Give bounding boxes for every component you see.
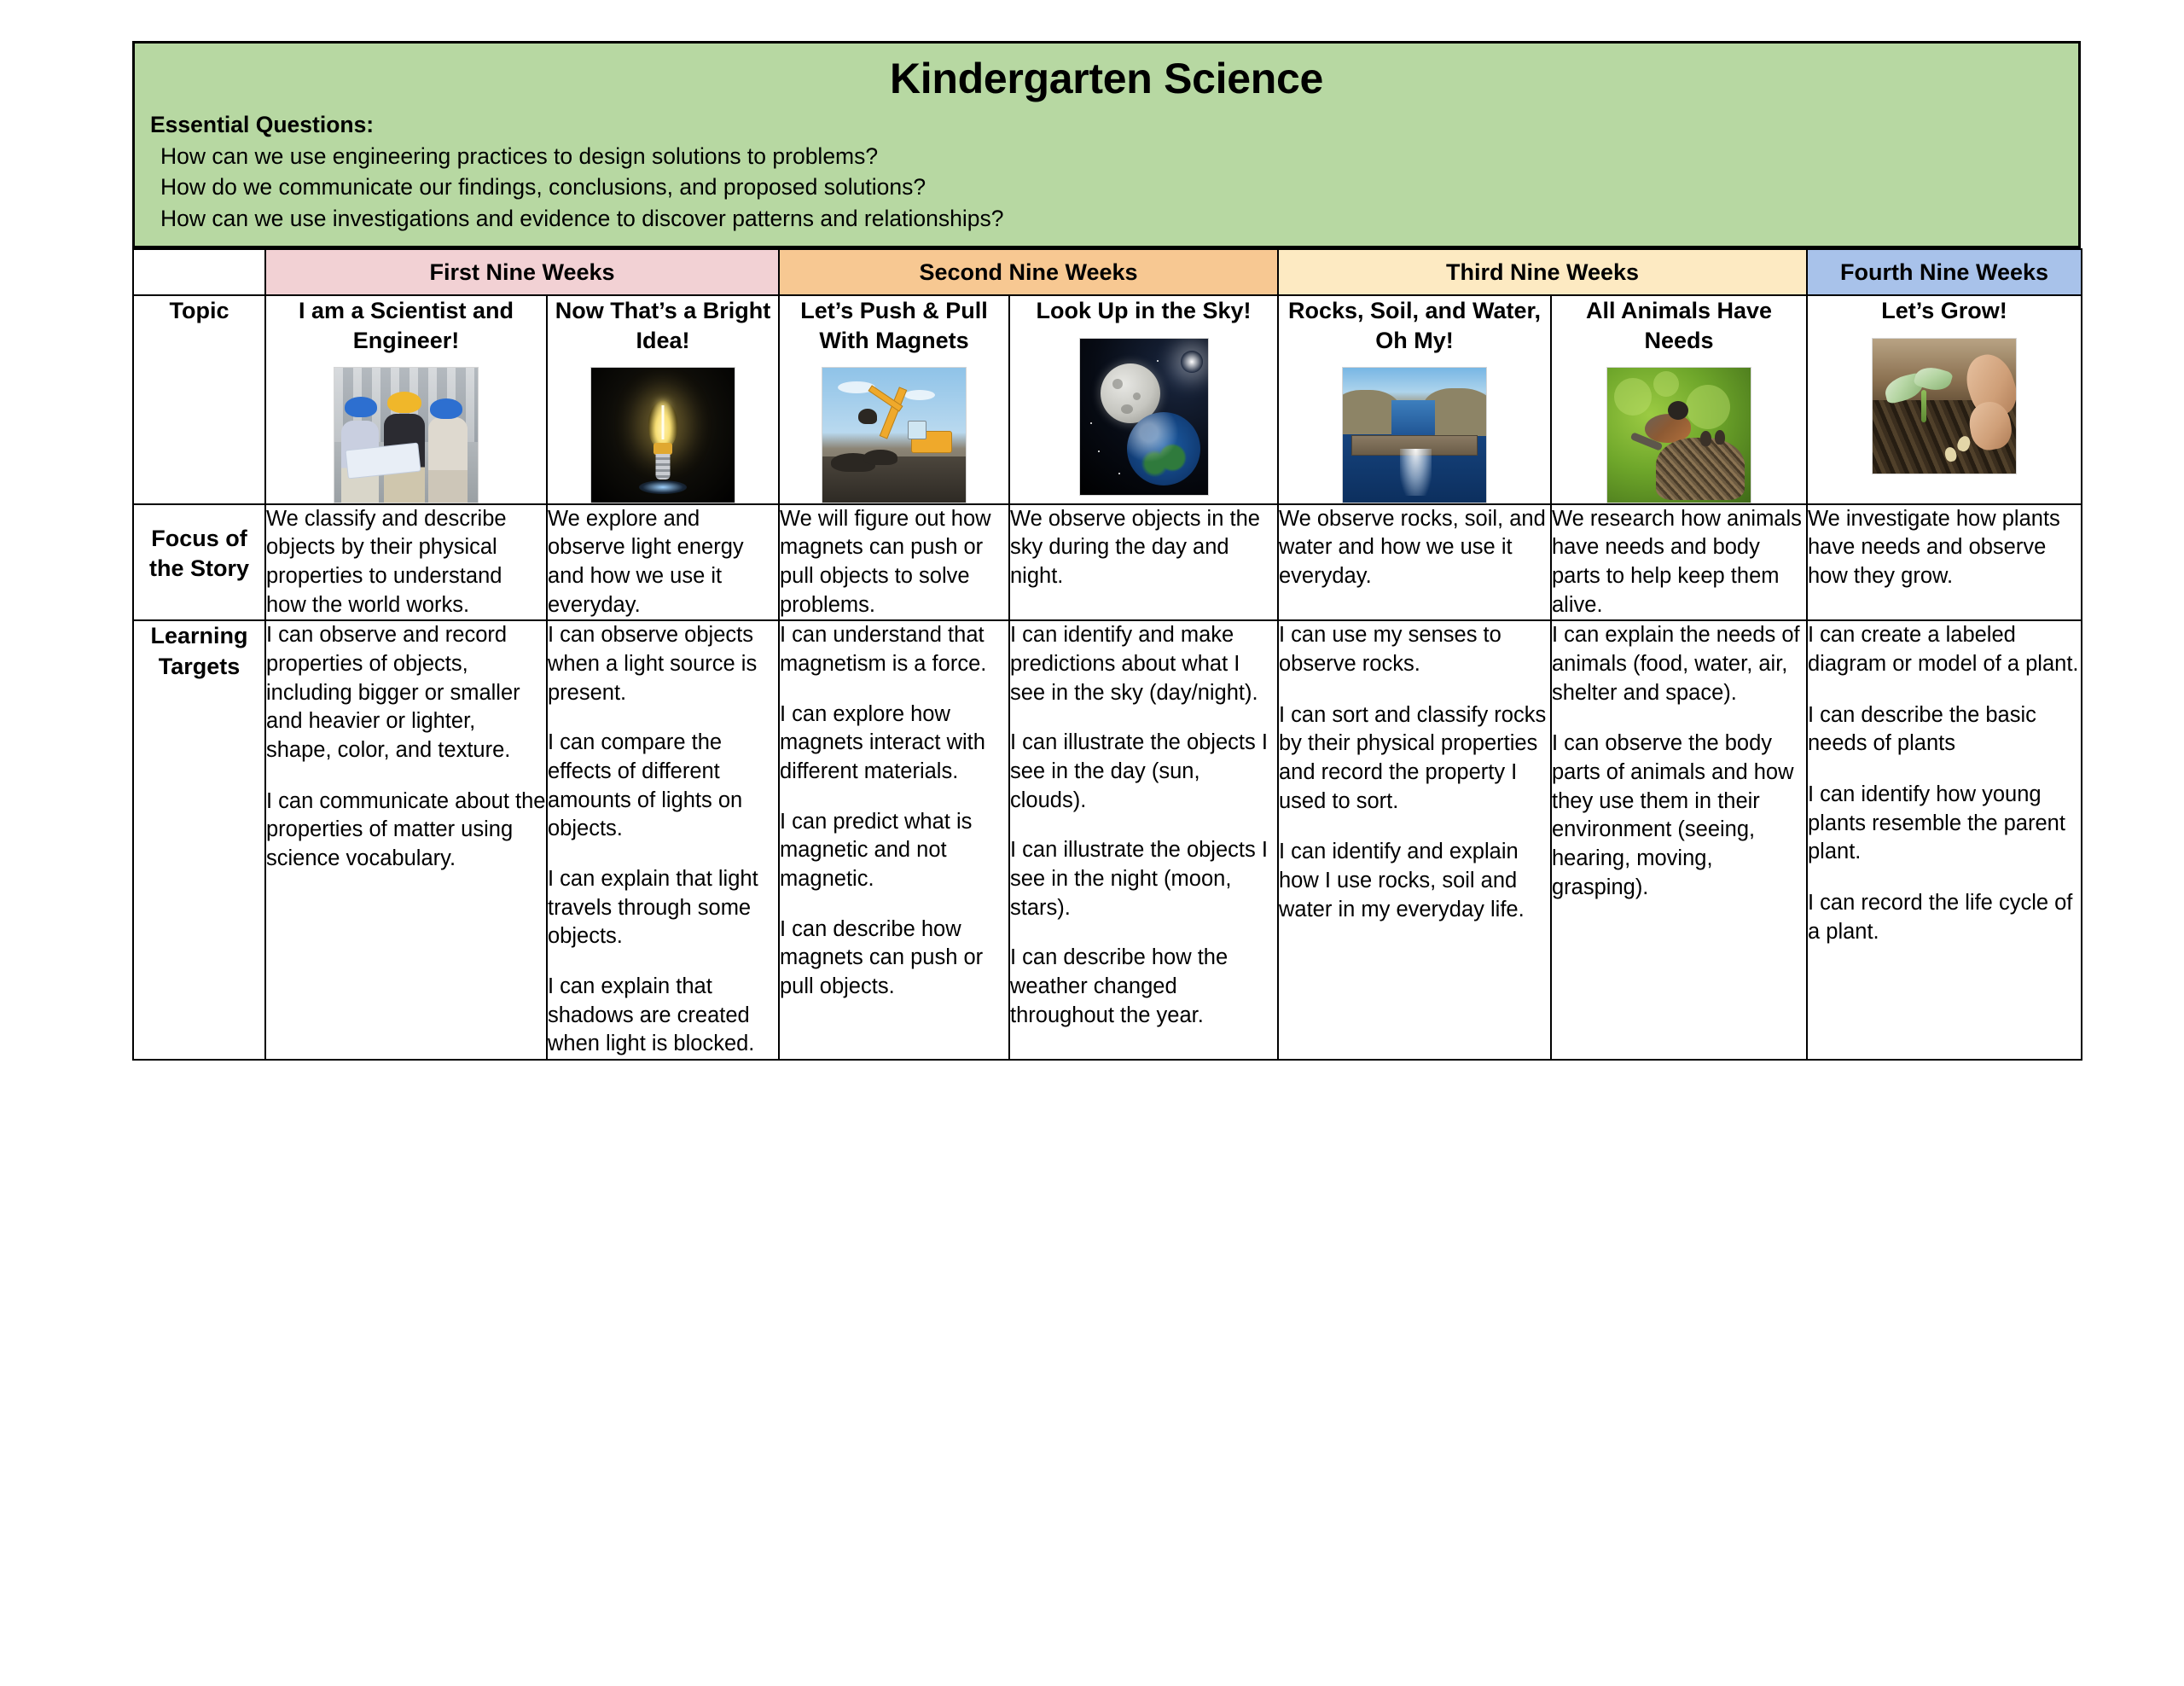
topic-image-wrap-7 [1808,326,2081,474]
topic-cell-1: I am a Scientist and Engineer! [265,295,547,504]
learning-target-item: I can understand that magnetism is a for… [780,621,1008,678]
learning-target-item: I can identify how young plants resemble… [1808,781,2081,867]
term-header-spacer [133,249,265,295]
excavator-crane-photo [822,367,967,503]
focus-row: Focus of the Story We classify and descr… [133,504,2082,621]
row-label-targets: Learning Targets [133,620,265,1060]
learning-target-item: I can predict what is magnetic and not m… [780,808,1008,894]
learning-target-item: I can describe the basic needs of plants [1808,701,2081,759]
topic-cell-2: Now That’s a Bright Idea! [547,295,779,504]
essential-question-1: How can we use engineering practices to … [150,141,2063,172]
topic-title-1: I am a Scientist and Engineer! [266,296,546,355]
focus-cell-4: We observe objects in the sky during the… [1009,504,1278,621]
targets-cell-5: I can use my senses to observe rocks.I c… [1278,620,1551,1060]
learning-target-item: I can compare the effects of different a… [548,729,778,844]
focus-cell-5: We observe rocks, soil, and water and ho… [1278,504,1551,621]
light-bulb-photo [590,367,735,503]
topic-image-wrap-2 [548,355,778,503]
term-header-fourth: Fourth Nine Weeks [1807,249,2082,295]
learning-target-item: I can describe how the weather changed t… [1010,944,1277,1030]
topic-cell-4: Look Up in the Sky! [1009,295,1278,504]
learning-target-item: I can identify and make predictions abou… [1010,621,1277,707]
targets-row: Learning Targets I can observe and recor… [133,620,2082,1060]
topic-cell-6: All Animals Have Needs [1551,295,1807,504]
topic-cell-3: Let’s Push & Pull With Magnets [779,295,1009,504]
children-engineers-photo [334,367,479,503]
row-label-topic: Topic [133,295,265,504]
learning-target-item: I can illustrate the objects I see in th… [1010,836,1277,922]
learning-target-item: I can explore how magnets interact with … [780,701,1008,787]
targets-cell-7: I can create a labeled diagram or model … [1807,620,2082,1060]
targets-cell-2: I can observe objects when a light sourc… [547,620,779,1060]
learning-target-item: I can explain that light travels through… [548,865,778,951]
learning-target-item: I can explain that shadows are created w… [548,973,778,1059]
topic-title-7: Let’s Grow! [1808,296,2081,325]
topic-image-wrap-1 [266,355,546,503]
learning-target-item: I can communicate about the properties o… [266,788,546,874]
page-title: Kindergarten Science [150,55,2063,102]
targets-cell-4: I can identify and make predictions abou… [1009,620,1278,1060]
learning-target-item: I can illustrate the objects I see in th… [1010,729,1277,815]
topic-title-3: Let’s Push & Pull With Magnets [780,296,1008,355]
curriculum-map-page: Kindergarten Science Essential Questions… [0,0,2184,1686]
topic-image-wrap-6 [1552,355,1806,503]
targets-cell-1: I can observe and record properties of o… [265,620,547,1060]
targets-cell-6: I can explain the needs of animals (food… [1551,620,1807,1060]
topic-title-4: Look Up in the Sky! [1010,296,1277,325]
curriculum-table: First Nine Weeks Second Nine Weeks Third… [132,248,2082,1061]
essential-questions-label: Essential Questions: [150,109,2063,141]
focus-cell-6: We research how animals have needs and b… [1551,504,1807,621]
robin-feeding-chicks-photo [1606,367,1751,503]
focus-cell-2: We explore and observe light energy and … [547,504,779,621]
topic-image-wrap-4 [1010,326,1277,496]
focus-cell-3: We will figure out how magnets can push … [779,504,1009,621]
learning-target-item: I can use my senses to observe rocks. [1279,621,1550,678]
focus-cell-1: We classify and describe objects by thei… [265,504,547,621]
seedling-sprout-photo [1872,338,2017,474]
topic-image-wrap-5 [1279,355,1550,503]
topic-cell-5: Rocks, Soil, and Water, Oh My! [1278,295,1551,504]
learning-target-item: I can identify and explain how I use roc… [1279,838,1550,924]
topic-title-6: All Animals Have Needs [1552,296,1806,355]
moon-and-earth-photo [1079,338,1209,496]
learning-target-item: I can record the life cycle of a plant. [1808,889,2081,946]
term-header-second: Second Nine Weeks [779,249,1278,295]
learning-target-item: I can describe how magnets can push or p… [780,916,1008,1002]
essential-question-2: How do we communicate our findings, conc… [150,172,2063,203]
focus-cell-7: We investigate how plants have needs and… [1807,504,2082,621]
learning-target-item: I can observe and record properties of o… [266,621,546,765]
learning-target-item: I can create a labeled diagram or model … [1808,621,2081,678]
term-header-first: First Nine Weeks [265,249,779,295]
header-banner: Kindergarten Science Essential Questions… [132,41,2081,248]
term-header-third: Third Nine Weeks [1278,249,1807,295]
topic-title-5: Rocks, Soil, and Water, Oh My! [1279,296,1550,355]
row-label-focus: Focus of the Story [133,504,265,621]
learning-target-item: I can explain the needs of animals (food… [1552,621,1806,707]
learning-target-item: I can observe objects when a light sourc… [548,621,778,707]
learning-target-item: I can observe the body parts of animals … [1552,730,1806,902]
learning-target-item: I can sort and classify rocks by their p… [1279,701,1550,817]
dam-reservoir-photo [1342,367,1487,503]
targets-cell-3: I can understand that magnetism is a for… [779,620,1009,1060]
term-header-row: First Nine Weeks Second Nine Weeks Third… [133,249,2082,295]
topic-image-wrap-3 [780,355,1008,503]
topic-title-2: Now That’s a Bright Idea! [548,296,778,355]
topic-cell-7: Let’s Grow! [1807,295,2082,504]
essential-question-3: How can we use investigations and eviden… [150,203,2063,235]
topic-row: Topic I am a Scientist and Engineer! [133,295,2082,504]
